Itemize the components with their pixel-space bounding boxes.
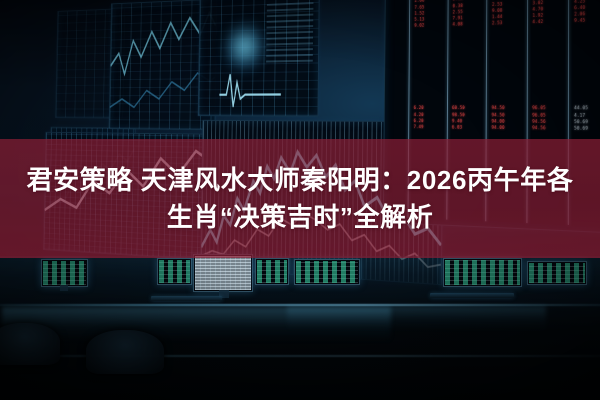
desk-area xyxy=(0,256,600,400)
keyboard xyxy=(151,296,222,301)
desk-monitor xyxy=(527,261,587,285)
desk-monitor xyxy=(157,258,191,286)
title-line-2: 生肖“决策吉时”全解析 xyxy=(167,200,434,234)
desk-monitor xyxy=(443,258,523,287)
banner-image: 2.067.651.525.139.02 3.180.382.557.914.0… xyxy=(0,0,600,400)
wall-screen xyxy=(197,0,319,116)
desk-monitor xyxy=(255,258,289,286)
desk-monitor xyxy=(41,259,88,287)
chair xyxy=(0,323,60,365)
title-block: 君安策略 天津风水大师秦阳明：2026丙午年各 生肖“决策吉时”全解析 xyxy=(0,139,600,258)
keyboard xyxy=(430,293,514,299)
chair xyxy=(86,330,164,375)
desk-monitor xyxy=(294,259,361,285)
title-line-1: 君安策略 天津风水大师秦阳明：2026丙午年各 xyxy=(27,163,574,197)
desk-monitor xyxy=(193,254,253,291)
waveform-icon xyxy=(198,0,318,115)
